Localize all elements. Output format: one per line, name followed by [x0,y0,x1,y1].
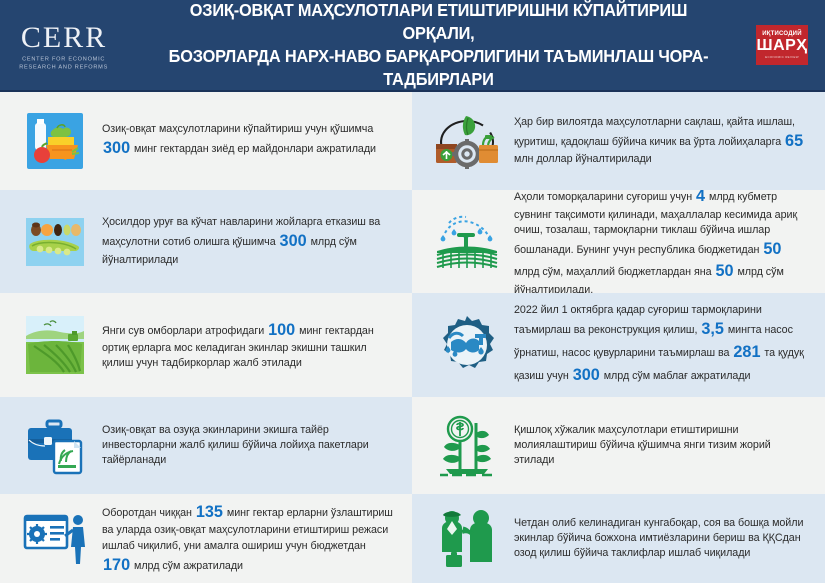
highlight-number: 4 [695,190,706,205]
measure-card-text: Озиқ-овқат маҳсулотларини кўпайтириш учу… [102,122,394,160]
iqtisodiy-sharh-badge: ИҚТИСОДИЙ ШАРҲ ECONOMIC REVIEW [749,25,815,65]
measure-card-text: Озиқ-овқат ва озуқа экинларини экишга та… [102,423,394,468]
cerr-logo-text: CERR [21,23,107,53]
seeds-icon [18,205,92,279]
highlight-number: 281 [732,343,761,361]
measure-card-text: Четдан олиб келинадиган кунгабоқар, соя … [514,516,807,561]
highlight-number: 170 [102,556,131,574]
measure-card-left-2: Ҳосилдор уруғ ва кўчат навларини жойларг… [0,190,412,293]
water-pump-gear-icon [430,308,504,382]
cerr-logo: CERR CENTER FOR ECONOMIC RESEARCH AND RE… [0,23,128,67]
page-title-line2: БОЗОРЛАРДА НАРХ-НАВО БАРҚАРОРЛИГИНИ ТАЪМ… [152,45,724,91]
cerr-logo-tagline: CENTER FOR ECONOMIC RESEARCH AND REFORMS [20,56,109,73]
highlight-number: 3,5 [700,320,725,338]
page-title: ОЗИҚ-ОВҚАТ МАҲСУЛОТЛАРИ ЕТИШТИРИШНИ КЎПА… [147,0,731,91]
measures-grid: Озиқ-овқат маҳсулотларини кўпайтириш учу… [0,92,825,583]
measure-card-left-4: Озиқ-овқат ва озуқа экинларини экишга та… [0,397,412,494]
irrigation-sprinkler-icon [430,205,504,279]
highlight-number: 300 [102,139,131,157]
measure-card-left-1: Озиқ-овқат маҳсулотларини кўпайтириш учу… [0,92,412,190]
briefcase-document-icon [18,409,92,483]
measure-card-text: Қишлоқ хўжалик маҳсулотлари етиштиришни … [514,423,807,468]
measure-card-text: Ҳосилдор уруғ ва кўчат навларини жойларг… [102,215,394,268]
highlight-number: 100 [267,321,296,339]
highlight-number: 50 [714,262,734,280]
presentation-board-icon [18,502,92,576]
measure-card-text: 2022 йил 1 октябрга қадар суғориш тармоқ… [514,303,807,386]
highlight-number: 300 [279,232,308,250]
badge-bottom-text: ECONOMIC REVIEW [765,56,799,59]
measure-card-right-5: Четдан олиб келинадиган кунгабоқар, соя … [412,494,825,583]
measure-card-left-5: Оборотдан чиққан 135 минг гектар ерларни… [0,494,412,583]
measure-card-left-3: Янги сув омборлари атрофидаги 100 минг г… [0,293,412,397]
highlight-number: 65 [784,132,804,150]
infographic-page: CERR CENTER FOR ECONOMIC RESEARCH AND RE… [0,0,825,583]
measure-card-right-2: Аҳоли томорқаларини суғориш учун 4 млрд … [412,190,825,293]
highlight-number: 300 [572,366,601,384]
business-handshake-icon [430,502,504,576]
badge-main-text: ШАРҲ [757,38,808,54]
farm-field-icon [18,308,92,382]
measure-card-right-4: Қишлоқ хўжалик маҳсулотлари етиштиришни … [412,397,825,494]
measure-card-text: Оборотдан чиққан 135 минг гектар ерларни… [102,501,394,577]
processing-cycle-icon [430,104,504,178]
measure-card-text: Ҳар бир вилоятда маҳсулотларни сақлаш, қ… [514,115,807,168]
highlight-number: 50 [762,240,782,258]
badge-box: ИҚТИСОДИЙ ШАРҲ ECONOMIC REVIEW [756,25,808,65]
measure-card-right-3: 2022 йил 1 октябрга қадар суғориш тармоқ… [412,293,825,397]
measure-card-text: Янги сув омборлари атрофидаги 100 минг г… [102,319,394,372]
page-title-line1: ОЗИҚ-ОВҚАТ МАҲСУЛОТЛАРИ ЕТИШТИРИШНИ КЎПА… [190,0,687,43]
money-plant-icon [430,409,504,483]
measure-card-text: Аҳоли томорқаларини суғориш учун 4 млрд … [514,190,807,293]
page-header: CERR CENTER FOR ECONOMIC RESEARCH AND RE… [0,0,825,92]
highlight-number: 135 [195,503,224,521]
measure-card-right-1: Ҳар бир вилоятда маҳсулотларни сақлаш, қ… [412,92,825,190]
food-basket-icon [18,104,92,178]
